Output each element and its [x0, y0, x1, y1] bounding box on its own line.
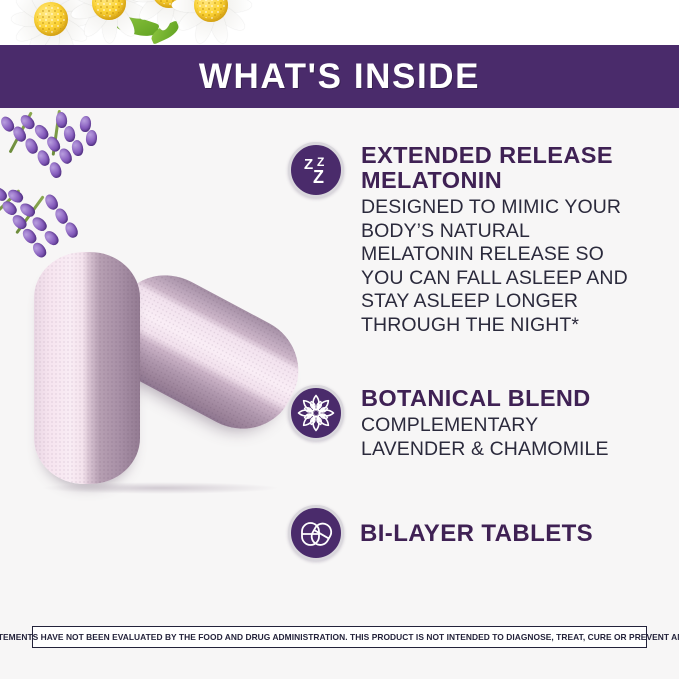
feature-body: DESIGNED TO MIMIC YOUR BODY’S NATURAL ME… [361, 196, 666, 337]
feature-body-line: STAY ASLEEP LONGER [361, 290, 666, 314]
chamomile-flower [176, 0, 246, 40]
feature-title-line: BI-LAYER TABLETS [360, 520, 593, 547]
feature-body-line: YOU CAN FALL ASLEEP AND [361, 267, 666, 291]
zzz-icon: Z Z Z [288, 142, 344, 198]
features-list: Z Z Z EXTENDED RELEASE MELATONIN DESIGNE… [288, 142, 666, 562]
feature-title: BOTANICAL BLEND [361, 386, 609, 411]
feature-body-line: THROUGH THE NIGHT* [361, 314, 666, 338]
bi-layer-tablet-icon [288, 505, 344, 561]
feature-text: BI-LAYER TABLETS [360, 505, 593, 562]
disclaimer-box: *THESE STATEMENTS HAVE NOT BEEN EVALUATE… [32, 626, 647, 648]
feature-body: COMPLEMENTARY LAVENDER & CHAMOMILE [361, 414, 609, 461]
header-banner: WHAT'S INSIDE [0, 45, 679, 108]
feature-text: BOTANICAL BLEND COMPLEMENTARY LAVENDER &… [361, 385, 609, 461]
tablet-upright [34, 252, 140, 484]
feature-text: EXTENDED RELEASE MELATONIN DESIGNED TO M… [361, 142, 666, 337]
feature-title-line: MELATONIN [361, 167, 502, 193]
disclaimer-text: *THESE STATEMENTS HAVE NOT BEEN EVALUATE… [0, 632, 679, 642]
chamomile-decor-strip [0, 0, 679, 46]
feature-body-line: MELATONIN RELEASE SO [361, 243, 666, 267]
feature-body-line: LAVENDER & CHAMOMILE [361, 438, 609, 462]
page-title: WHAT'S INSIDE [199, 57, 480, 97]
feature-title-line: BOTANICAL BLEND [361, 385, 591, 411]
feature-extended-release-melatonin: Z Z Z EXTENDED RELEASE MELATONIN DESIGNE… [288, 142, 666, 337]
feature-title: EXTENDED RELEASE MELATONIN [361, 143, 666, 193]
botanical-flower-icon [288, 385, 344, 441]
product-infographic: WHAT'S INSIDE [0, 0, 679, 679]
svg-text:Z: Z [304, 156, 313, 173]
feature-bi-layer-tablets: BI-LAYER TABLETS [288, 505, 666, 562]
feature-body-line: DESIGNED TO MIMIC YOUR [361, 196, 666, 220]
feature-body-line: COMPLEMENTARY [361, 414, 609, 438]
tablet-shadow [40, 482, 280, 494]
bi-layer-tablets-photo [14, 236, 299, 504]
feature-title: BI-LAYER TABLETS [360, 506, 593, 562]
svg-text:Z: Z [313, 167, 324, 187]
feature-title-line: EXTENDED RELEASE [361, 142, 613, 168]
feature-botanical-blend: BOTANICAL BLEND COMPLEMENTARY LAVENDER &… [288, 385, 666, 461]
feature-body-line: BODY’S NATURAL [361, 220, 666, 244]
